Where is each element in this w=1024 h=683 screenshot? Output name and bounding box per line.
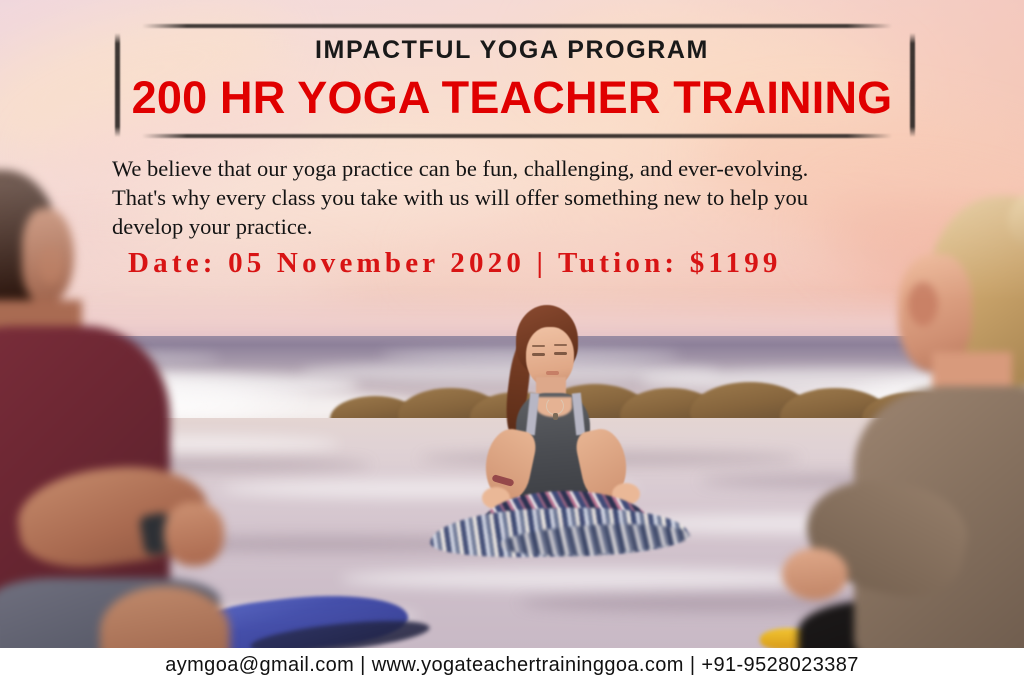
date-and-tuition: Date: 05 November 2020 | Tution: $1199 bbox=[128, 247, 928, 280]
page-title: 200 HR YOGA TEACHER TRAINING bbox=[0, 72, 1024, 124]
program-eyebrow: IMPACTFUL YOGA PROGRAM bbox=[0, 36, 1024, 65]
closed-eye bbox=[554, 352, 567, 355]
eyebrow bbox=[554, 344, 567, 346]
description-line-1: We believe that our yoga practice can be… bbox=[112, 154, 902, 183]
lips bbox=[546, 371, 559, 375]
frame-top-rule bbox=[142, 24, 892, 28]
description-line-3: develop your practice. bbox=[112, 212, 902, 241]
contact-footer: aymgoa@gmail.com | www.yogateachertraini… bbox=[0, 648, 1024, 683]
poster-canvas: IMPACTFUL YOGA PROGRAM 200 HR YOGA TEACH… bbox=[0, 0, 1024, 683]
pendant bbox=[553, 413, 558, 420]
description-block: We believe that our yoga practice can be… bbox=[112, 154, 902, 241]
ear bbox=[38, 244, 64, 284]
contact-details: aymgoa@gmail.com | www.yogateachertraini… bbox=[165, 654, 859, 677]
eyebrow bbox=[532, 345, 545, 347]
description-line-2: That's why every class you take with us … bbox=[112, 183, 902, 212]
hand-mudra bbox=[164, 502, 224, 566]
frame-bottom-rule bbox=[142, 134, 892, 138]
hand-mudra bbox=[782, 548, 848, 600]
ear bbox=[908, 282, 938, 326]
closed-eye bbox=[532, 353, 545, 356]
